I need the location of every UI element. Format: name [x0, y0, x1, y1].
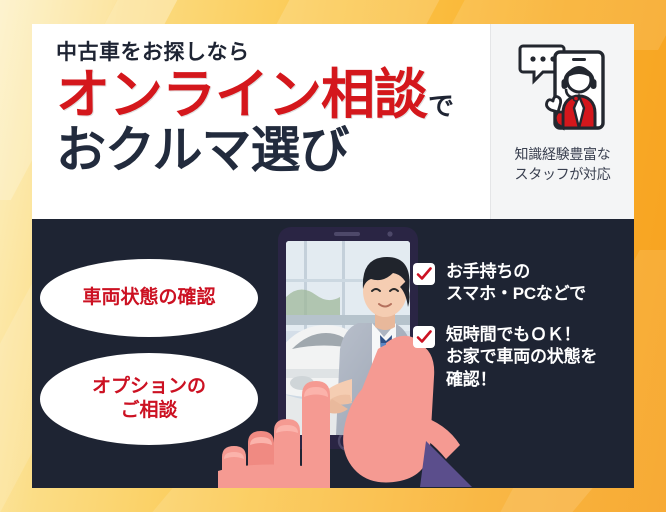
operator-headset-icon: [517, 38, 609, 138]
checklist-item-quick-line-3: 確認！: [446, 369, 597, 391]
headline-sub-line: おクルマ選び: [56, 124, 490, 176]
checklist-item-device: お手持ちの スマホ・PCなどで: [413, 261, 633, 306]
pill-vehicle-condition-label: 車両状態の確認: [82, 286, 215, 310]
pill-vehicle-condition[interactable]: 車両状態の確認: [40, 259, 258, 337]
headline-main-red: オンライン相談: [56, 69, 427, 122]
pill-option-consult-line-1: オプションの: [92, 375, 206, 399]
staff-panel: 知識経験豊富な スタッフが対応: [490, 24, 634, 219]
staff-caption: 知識経験豊富な スタッフが対応: [515, 144, 611, 185]
staff-caption-line-1: 知識経験豊富な: [515, 144, 611, 164]
feature-checklist: お手持ちの スマホ・PCなどで 短時間でもＯＫ！ お家で車両の状態を 確認！: [413, 261, 633, 409]
checklist-item-quick-line-1: 短時間でもＯＫ！: [446, 324, 597, 346]
staff-caption-line-2: スタッフが対応: [515, 164, 611, 184]
check-icon: [413, 263, 435, 285]
pill-option-consult[interactable]: オプションの ご相談: [40, 353, 258, 445]
checklist-item-quick-line-2: お家で車両の状態を: [446, 346, 597, 368]
promo-banner: 中古車をお探しなら オンライン相談 で おクルマ選び: [0, 0, 666, 512]
headline-panel: 中古車をお探しなら オンライン相談 で おクルマ選び: [32, 24, 634, 219]
features-panel: 車両状態の確認 オプションの ご相談 お手持ちの スマホ・PCなどで: [32, 219, 634, 488]
pill-option-consult-label: オプションの ご相談: [92, 375, 206, 423]
pill-option-consult-line-2: ご相談: [92, 399, 206, 423]
headline-area: 中古車をお探しなら オンライン相談 で おクルマ選び: [32, 24, 490, 219]
checklist-item-device-line-2: スマホ・PCなどで: [446, 283, 586, 305]
checklist-item-device-text: お手持ちの スマホ・PCなどで: [446, 261, 586, 306]
headline-main-suffix: で: [428, 93, 454, 122]
checklist-item-device-line-1: お手持ちの: [446, 261, 586, 283]
headline-kicker: 中古車をお探しなら: [56, 42, 490, 63]
headline-main-line: オンライン相談 で: [56, 69, 490, 122]
check-icon: [413, 326, 435, 348]
checklist-item-quick: 短時間でもＯＫ！ お家で車両の状態を 確認！: [413, 324, 633, 391]
checklist-item-quick-text: 短時間でもＯＫ！ お家で車両の状態を 確認！: [446, 324, 597, 391]
